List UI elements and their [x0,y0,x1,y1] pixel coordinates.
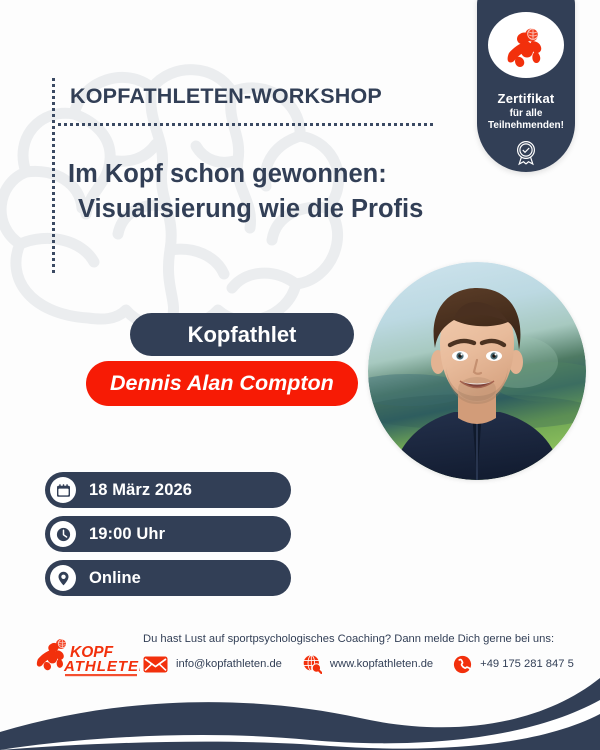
footer-tagline: Du hast Lust auf sportpsychologisches Co… [143,633,554,645]
calendar-icon [50,477,76,503]
event-location-label: Online [89,569,141,588]
event-location-pill: Online [45,560,291,596]
badge-title: Zertifikat [498,91,555,106]
event-time-pill: 19:00 Uhr [45,516,291,552]
contact-phone-value: +49 175 281 847 5 [480,658,574,670]
horizontal-dotted-divider [58,123,436,126]
contact-website-value: www.kopfathleten.de [330,658,433,670]
event-details-list: 18 März 2026 19:00 Uhr Online [45,472,291,604]
event-date-pill: 18 März 2026 [45,472,291,508]
speaker-role-pill: Kopfathlet [130,313,354,356]
award-rosette-icon [513,139,539,172]
badge-subtitle-2: Teilnehmenden! [488,120,564,131]
event-date-label: 18 März 2026 [89,481,192,500]
contact-email-value: info@kopfathleten.de [176,658,282,670]
vertical-dotted-divider [52,78,55,274]
speaker-name-pill: Dennis Alan Compton [86,361,358,406]
location-pin-icon [50,565,76,591]
badge-subtitle-1: für alle [510,108,543,119]
avatar [368,262,586,480]
badge-logo-circle [488,12,564,78]
certificate-badge: Zertifikat für alle Teilnehmenden! [477,0,575,172]
workshop-kicker: KOPFATHLETEN-WORKSHOP [70,84,382,109]
speaker-portrait [368,262,586,480]
title-line-1: Im Kopf schon gewonnen: [68,160,387,188]
runner-brain-icon [500,19,552,71]
title-line-2: Visualisierung wie die Profis [68,192,468,227]
page-title: Im Kopf schon gewonnen: Visualisierung w… [68,157,468,227]
event-time-label: 19:00 Uhr [89,525,165,544]
bottom-wave-decoration [0,670,600,750]
poster-canvas: KOPFATHLETEN-WORKSHOP Im Kopf schon gewo… [0,0,600,750]
clock-icon [50,521,76,547]
